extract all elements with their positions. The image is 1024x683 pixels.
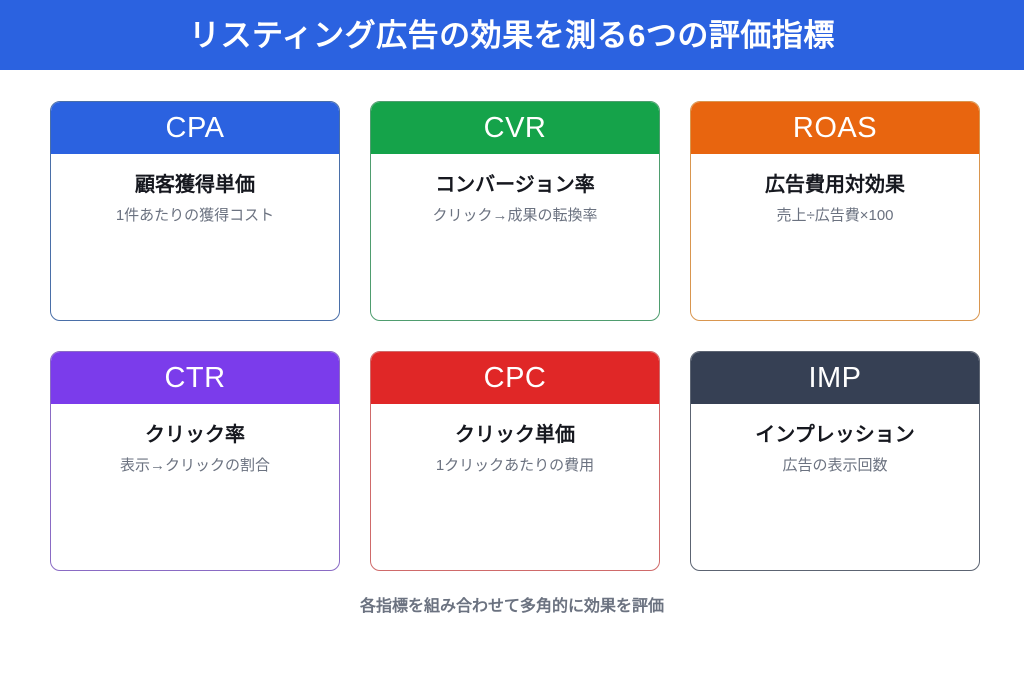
metric-code: ROAS: [793, 114, 877, 143]
metric-card-body: クリック単価 1クリックあたりの費用: [371, 404, 659, 570]
metric-title: 広告費用対効果: [701, 173, 969, 198]
metric-description: 1件あたりの獲得コスト: [61, 207, 329, 226]
metric-code: IMP: [808, 364, 861, 393]
metric-title: インプレッション: [701, 423, 969, 448]
metric-card-header: CPA: [51, 102, 339, 154]
metric-card-imp[interactable]: IMP インプレッション 広告の表示回数: [690, 351, 980, 571]
footer-note: 各指標を組み合わせて多角的に効果を評価: [0, 597, 1024, 618]
metric-card-header: CTR: [51, 352, 339, 404]
metric-code: CVR: [484, 114, 547, 143]
metric-card-header: CPC: [371, 352, 659, 404]
metric-description: 1クリックあたりの費用: [381, 457, 649, 476]
metric-card-ctr[interactable]: CTR クリック率 表示→クリックの割合: [50, 351, 340, 571]
metric-card-body: 顧客獲得単価 1件あたりの獲得コスト: [51, 154, 339, 320]
infographic-page: リスティング広告の効果を測る6つの評価指標 CPA 顧客獲得単価 1件あたりの獲…: [0, 0, 1024, 683]
metric-card-body: コンバージョン率 クリック→成果の転換率: [371, 154, 659, 320]
metric-card-cvr[interactable]: CVR コンバージョン率 クリック→成果の転換率: [370, 101, 660, 321]
metric-card-body: クリック率 表示→クリックの割合: [51, 404, 339, 570]
header-banner: リスティング広告の効果を測る6つの評価指標: [0, 0, 1024, 70]
metric-description: クリック→成果の転換率: [381, 207, 649, 226]
page-title: リスティング広告の効果を測る6つの評価指標: [189, 20, 835, 51]
metric-code: CPC: [484, 364, 547, 393]
metric-code: CPA: [166, 114, 225, 143]
metric-card-cpc[interactable]: CPC クリック単価 1クリックあたりの費用: [370, 351, 660, 571]
metric-description: 売上÷広告費×100: [701, 207, 969, 226]
metric-title: 顧客獲得単価: [61, 173, 329, 198]
metric-code: CTR: [164, 364, 225, 393]
footer: 各指標を組み合わせて多角的に効果を評価: [0, 597, 1024, 618]
metric-card-roas[interactable]: ROAS 広告費用対効果 売上÷広告費×100: [690, 101, 980, 321]
metric-description: 表示→クリックの割合: [61, 457, 329, 476]
metric-title: クリック率: [61, 423, 329, 448]
metric-card-body: インプレッション 広告の表示回数: [691, 404, 979, 570]
metric-card-header: IMP: [691, 352, 979, 404]
metric-card-grid: CPA 顧客獲得単価 1件あたりの獲得コスト CVR コンバージョン率 クリック…: [50, 101, 981, 571]
metric-card-cpa[interactable]: CPA 顧客獲得単価 1件あたりの獲得コスト: [50, 101, 340, 321]
metric-card-header: ROAS: [691, 102, 979, 154]
metric-card-body: 広告費用対効果 売上÷広告費×100: [691, 154, 979, 320]
metric-card-header: CVR: [371, 102, 659, 154]
metric-description: 広告の表示回数: [701, 457, 969, 476]
metric-title: クリック単価: [381, 423, 649, 448]
metric-title: コンバージョン率: [381, 173, 649, 198]
